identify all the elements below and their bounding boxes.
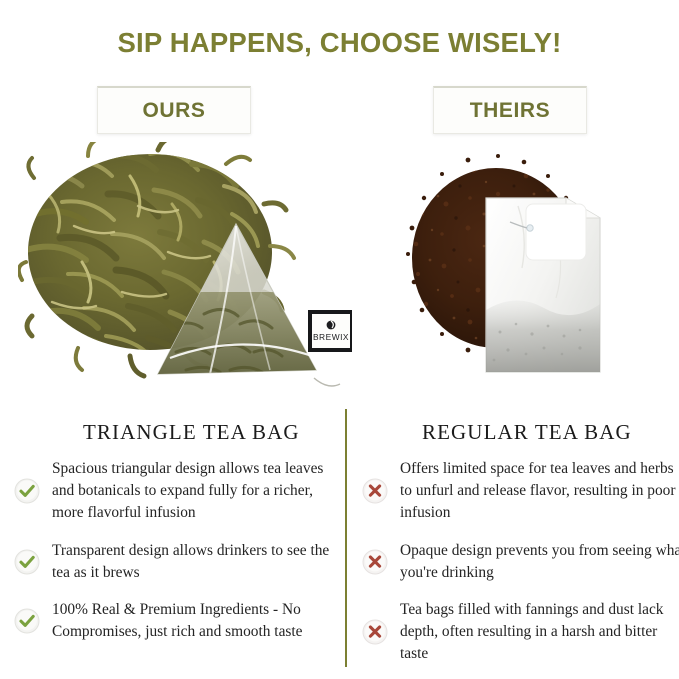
list-item-text: 100% Real & Premium Ingredients - No Com…	[52, 599, 339, 643]
list-item: Offers limited space for tea leaves and …	[362, 458, 679, 524]
list-item-text: Tea bags filled with fannings and dust l…	[400, 599, 679, 665]
column-divider	[345, 409, 347, 667]
tab-theirs: THEIRS	[433, 86, 587, 134]
theirs-drawback-list: Offers limited space for tea leaves and …	[362, 458, 679, 665]
ours-benefit-list: Spacious triangular design allows tea le…	[14, 458, 339, 643]
tab-theirs-label: THEIRS	[470, 99, 551, 123]
check-icon	[14, 549, 40, 575]
cross-icon	[362, 619, 388, 645]
brand-tag: BREWIX	[308, 310, 352, 352]
theirs-product-title: REGULAR TEA BAG	[422, 420, 632, 445]
list-item: Opaque design prevents you from seeing w…	[362, 540, 679, 584]
check-icon	[14, 608, 40, 634]
theirs-product-image	[398, 142, 652, 397]
ours-product-title: TRIANGLE TEA BAG	[83, 420, 300, 445]
ours-product-image: BREWIX	[18, 142, 352, 397]
list-item: Spacious triangular design allows tea le…	[14, 458, 339, 524]
tab-ours-label: OURS	[142, 99, 205, 123]
cross-icon	[362, 478, 388, 504]
tab-ours: OURS	[97, 86, 251, 134]
list-item: 100% Real & Premium Ingredients - No Com…	[14, 599, 339, 643]
loose-leaf-tea-illustration: BREWIX	[18, 142, 352, 397]
list-item-text: Spacious triangular design allows tea le…	[52, 458, 339, 524]
page-title: SIP HAPPENS, CHOOSE WISELY!	[0, 27, 679, 59]
list-item-text: Opaque design prevents you from seeing w…	[400, 540, 679, 584]
list-item-text: Offers limited space for tea leaves and …	[400, 458, 679, 524]
brand-tag-label: BREWIX	[313, 332, 349, 342]
comparison-infographic: SIP HAPPENS, CHOOSE WISELY! OURS THEIRS	[0, 0, 679, 679]
list-item-text: Transparent design allows drinkers to se…	[52, 540, 339, 584]
tea-dust-illustration	[398, 142, 652, 397]
list-item: Transparent design allows drinkers to se…	[14, 540, 339, 584]
rectangular-tea-bag	[486, 198, 600, 374]
cross-icon	[362, 549, 388, 575]
list-item: Tea bags filled with fannings and dust l…	[362, 599, 679, 665]
check-icon	[14, 478, 40, 504]
